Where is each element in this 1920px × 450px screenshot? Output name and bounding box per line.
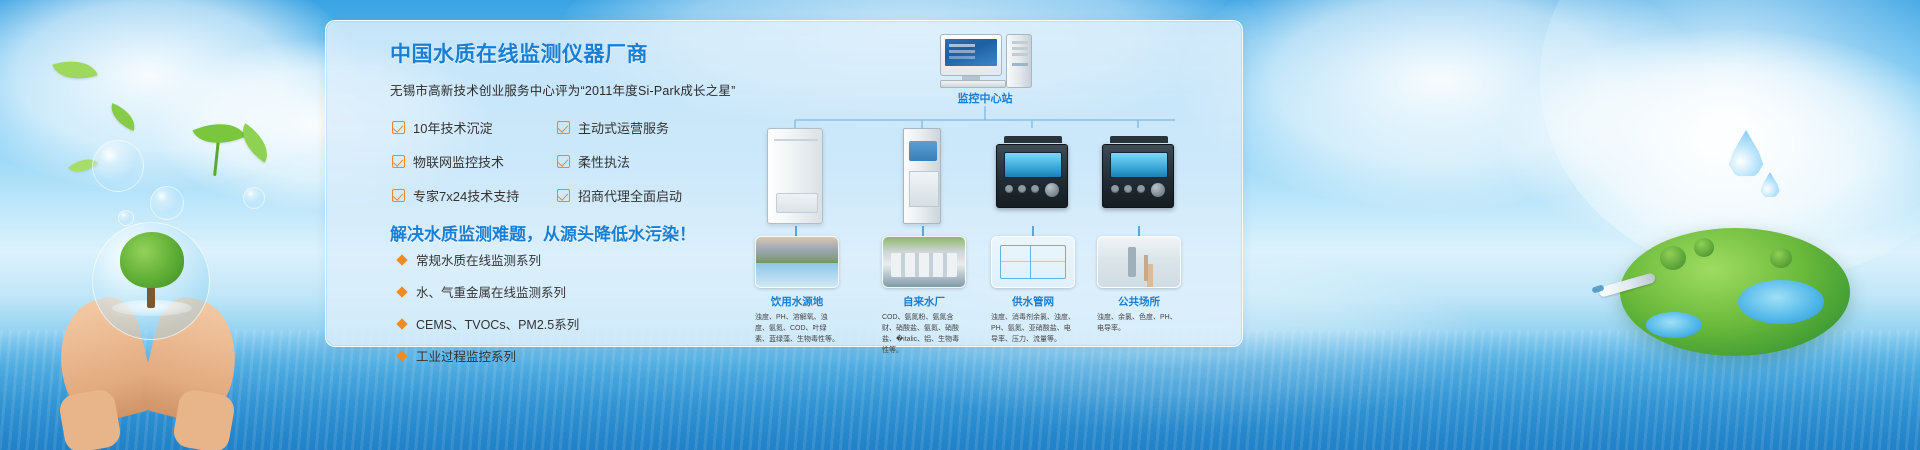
green-island-icon bbox=[1620, 228, 1850, 356]
desktop-computer-icon bbox=[940, 34, 1032, 90]
cabinet-analyzer-icon bbox=[767, 128, 823, 224]
device-rack-analyzer[interactable] bbox=[903, 128, 941, 224]
feature-item[interactable]: 主动式运营服务 bbox=[557, 118, 712, 137]
keyboard-icon bbox=[940, 80, 1006, 88]
product-label: 水、气重金属在线监测系列 bbox=[416, 282, 566, 301]
scenario-card[interactable]: 饮用水源地 浊度、PH、溶解氧、浊度、氨氮、COD、叶绿素、蓝绿藻、生物毒性等。 bbox=[755, 236, 839, 346]
feature-item[interactable]: 物联网监控技术 bbox=[392, 152, 557, 171]
product-label: CEMS、TVOCs、PM2.5系列 bbox=[416, 314, 579, 333]
panel-screen bbox=[1110, 152, 1168, 178]
product-list-item[interactable]: 工业过程监控系列 bbox=[398, 346, 579, 365]
feature-list: 10年技术沉淀 主动式运营服务 物联网监控技术 柔性执法 专家7x24技术支持 … bbox=[392, 118, 712, 205]
bubble-icon bbox=[150, 186, 184, 220]
hero-text-column: 中国水质在线监测仪器厂商 无锡市高新技术创业服务中心评为“2011年度Si-Pa… bbox=[390, 38, 720, 99]
product-series-list: 常规水质在线监测系列 水、气重金属在线监测系列 CEMS、TVOCs、PM2.5… bbox=[398, 250, 579, 378]
panel-buttons[interactable] bbox=[1111, 185, 1145, 193]
scenario-title: 供水管网 bbox=[991, 294, 1075, 309]
panel-button-icon[interactable] bbox=[1137, 185, 1145, 193]
scenario-card[interactable]: 自来水厂 COD、氨氮粉、氨氮含财、硝酸盐、氨氮、硝酸盐、�italic、铝、生… bbox=[882, 236, 966, 356]
panel-buttons[interactable] bbox=[1005, 185, 1039, 193]
island-tree-icon bbox=[1660, 246, 1686, 270]
island-tree-icon bbox=[1694, 238, 1714, 257]
product-label: 常规水质在线监测系列 bbox=[416, 250, 541, 269]
tree-canopy-icon bbox=[120, 232, 184, 288]
product-list-item[interactable]: 常规水质在线监测系列 bbox=[398, 250, 579, 269]
scenario-desc: COD、氨氮粉、氨氮含财、硝酸盐、氨氮、硝酸盐、�italic、铝、生物毒性等。 bbox=[882, 313, 966, 356]
product-label: 工业过程监控系列 bbox=[416, 346, 516, 365]
checkbox-icon bbox=[557, 121, 570, 134]
device-row bbox=[755, 128, 1215, 236]
panel-top-bar bbox=[1004, 136, 1062, 143]
page-subtitle: 无锡市高新技术创业服务中心评为“2011年度Si-Park成长之星” bbox=[390, 80, 720, 99]
pipe-diagram bbox=[991, 236, 1075, 288]
panel-knob-icon[interactable] bbox=[1151, 183, 1165, 197]
feature-item[interactable]: 10年技术沉淀 bbox=[392, 118, 557, 137]
diamond-bullet-icon bbox=[396, 350, 407, 361]
panel-button-icon[interactable] bbox=[1124, 185, 1132, 193]
diamond-bullet-icon bbox=[396, 286, 407, 297]
scenario-title: 自来水厂 bbox=[882, 294, 966, 309]
system-diagram: 监控中心站 bbox=[755, 28, 1215, 338]
feature-label: 柔性执法 bbox=[578, 152, 630, 171]
feature-item[interactable]: 柔性执法 bbox=[557, 152, 712, 171]
scenario-desc: 浊度、消毒剂余氯、浊度、PH、氨氮、亚硝酸盐、电导率、压力、流量等。 bbox=[991, 313, 1075, 346]
panel-knob-icon[interactable] bbox=[1045, 183, 1059, 197]
cloud-icon bbox=[0, 0, 360, 190]
panel-controller-icon bbox=[996, 144, 1068, 208]
device-panel-controller-2[interactable] bbox=[1102, 128, 1174, 208]
device-water-cabinet-analyzer[interactable] bbox=[767, 128, 823, 224]
scenario-title: 公共场所 bbox=[1097, 294, 1181, 309]
feature-label: 主动式运营服务 bbox=[578, 118, 669, 137]
product-list-item[interactable]: CEMS、TVOCs、PM2.5系列 bbox=[398, 314, 579, 333]
panel-button-icon[interactable] bbox=[1111, 185, 1119, 193]
panel-button-icon[interactable] bbox=[1018, 185, 1026, 193]
river-photo bbox=[755, 236, 839, 288]
tap-water-photo bbox=[1097, 236, 1181, 288]
panel-button-icon[interactable] bbox=[1005, 185, 1013, 193]
feature-label: 专家7x24技术支持 bbox=[413, 186, 519, 205]
diamond-bullet-icon bbox=[396, 254, 407, 265]
product-list-item[interactable]: 水、气重金属在线监测系列 bbox=[398, 282, 579, 301]
device-panel-controller-1[interactable] bbox=[996, 128, 1068, 208]
scenario-card[interactable]: 供水管网 浊度、消毒剂余氯、浊度、PH、氨氮、亚硝酸盐、电导率、压力、流量等。 bbox=[991, 236, 1075, 346]
feature-item[interactable]: 招商代理全面启动 bbox=[557, 186, 712, 205]
monitor-icon bbox=[940, 34, 1002, 76]
checkbox-icon bbox=[557, 189, 570, 202]
section-headline: 解决水质监测难题，从源头降低水污染！ bbox=[390, 220, 696, 245]
checkbox-icon bbox=[392, 155, 405, 168]
bubble-icon bbox=[92, 140, 144, 192]
feature-label: 10年技术沉淀 bbox=[413, 118, 492, 137]
panel-top-bar bbox=[1110, 136, 1168, 143]
scenario-title: 饮用水源地 bbox=[755, 294, 839, 309]
monitor-screen bbox=[945, 39, 997, 66]
wrist-right bbox=[171, 388, 236, 450]
scenario-desc: 浊度、余氯、色度、PH、电导率。 bbox=[1097, 313, 1181, 335]
treatment-plant-photo bbox=[882, 236, 966, 288]
panel-screen bbox=[1004, 152, 1062, 178]
bubble-icon bbox=[118, 210, 134, 226]
panel-button-icon[interactable] bbox=[1031, 185, 1039, 193]
feature-label: 物联网监控技术 bbox=[413, 152, 504, 171]
rack-analyzer-icon bbox=[903, 128, 941, 224]
checkbox-icon bbox=[392, 189, 405, 202]
panel-controller-icon bbox=[1102, 144, 1174, 208]
bubble-icon bbox=[243, 187, 265, 209]
island-lake bbox=[1738, 280, 1824, 324]
wrist-left bbox=[57, 388, 122, 450]
feature-label: 招商代理全面启动 bbox=[578, 186, 682, 205]
island-tree-icon bbox=[1770, 248, 1792, 268]
checkbox-icon bbox=[557, 155, 570, 168]
scenario-card[interactable]: 公共场所 浊度、余氯、色度、PH、电导率。 bbox=[1097, 236, 1181, 335]
island-lake bbox=[1646, 312, 1702, 338]
feature-item[interactable]: 专家7x24技术支持 bbox=[392, 186, 557, 205]
scenario-desc: 浊度、PH、溶解氧、浊度、氨氮、COD、叶绿素、蓝绿藻、生物毒性等。 bbox=[755, 313, 839, 346]
pc-tower-icon bbox=[1006, 34, 1032, 88]
diamond-bullet-icon bbox=[396, 318, 407, 329]
checkbox-icon bbox=[392, 121, 405, 134]
page-title: 中国水质在线监测仪器厂商 bbox=[390, 38, 720, 68]
